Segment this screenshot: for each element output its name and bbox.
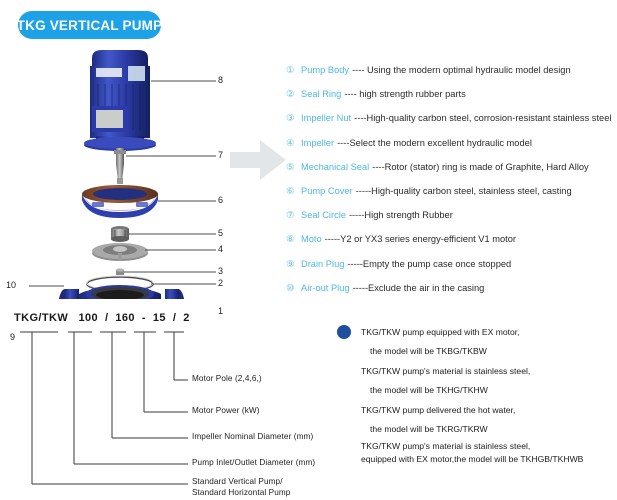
legend-number-icon: ③ bbox=[286, 112, 297, 124]
callout-8: 8 bbox=[218, 75, 223, 85]
page-title: TKG VERTICAL PUMP bbox=[17, 18, 163, 33]
legend-part-name: Pump Cover bbox=[301, 186, 353, 196]
legend-part-name: Moto bbox=[301, 234, 322, 244]
bullet-icon bbox=[337, 325, 351, 339]
legend-part-name: Drain Plug bbox=[301, 259, 344, 269]
right-arrow-icon bbox=[228, 138, 288, 182]
legend-description: -----Empty the pump case once stopped bbox=[347, 259, 511, 269]
callout-6: 6 bbox=[218, 195, 223, 205]
legend-description: -----High-quality carbon steel, stainles… bbox=[356, 186, 572, 196]
note-line: equipped with EX motor,the model will be… bbox=[361, 452, 617, 465]
model-leader-lines bbox=[0, 312, 330, 500]
note-line: TKG/TKW pump's material is stainless ste… bbox=[361, 361, 617, 381]
callout-5: 5 bbox=[218, 228, 223, 238]
legend-part-name: Impeller Nut bbox=[301, 113, 351, 123]
model-label-standard-horiz: Standard Horizontal Pump bbox=[192, 488, 290, 497]
note-line: the model will be TKRG/TKRW bbox=[361, 420, 617, 440]
legend-description: -----Y2 or YX3 series energy-efficient V… bbox=[325, 234, 516, 244]
note-line: the model will be TKHG/TKHW bbox=[361, 381, 617, 401]
callout-4: 4 bbox=[218, 244, 223, 254]
note-line: TKG/TKW pump's material is stainless ste… bbox=[361, 439, 617, 452]
legend-number-icon: ⑨ bbox=[286, 258, 297, 270]
model-label-impeller-dia: Impeller Nominal Diameter (mm) bbox=[192, 432, 313, 441]
legend-item: ⑥ Pump Cover -----High-quality carbon st… bbox=[286, 179, 617, 203]
legend-item: ② Seal Ring ---- high strength rubber pa… bbox=[286, 82, 617, 106]
legend-number-icon: ⑤ bbox=[286, 161, 297, 173]
callout-2: 2 bbox=[218, 278, 223, 288]
legend-item: ⑤ Mechanical Seal ----Rotor (stator) rin… bbox=[286, 155, 617, 179]
exploded-pump-diagram: 8 7 6 5 4 3 2 1 10 9 bbox=[20, 44, 260, 299]
pump-spec-sheet: TKG VERTICAL PUMP bbox=[0, 0, 617, 500]
pump-body-part bbox=[58, 285, 185, 299]
legend-description: ---- high strength rubber parts bbox=[344, 89, 465, 99]
legend-part-name: Pump Body bbox=[301, 65, 349, 75]
legend-part-name: Air-out Plug bbox=[301, 283, 350, 293]
legend-number-icon: ② bbox=[286, 88, 297, 100]
legend-number-icon: ⑧ bbox=[286, 233, 297, 245]
mechanical-seal-part bbox=[111, 226, 129, 242]
legend-description: ----High-quality carbon steel, corrosion… bbox=[354, 113, 611, 123]
legend-number-icon: ① bbox=[286, 64, 297, 76]
motor-part bbox=[84, 50, 156, 151]
legend-number-icon: ④ bbox=[286, 137, 297, 149]
model-label-inlet-dia: Pump Inlet/Outlet Diameter (mm) bbox=[192, 458, 315, 467]
legend-description: -----High strength Rubber bbox=[349, 210, 453, 220]
model-label-standard-vert: Standard Vertical Pump/ bbox=[192, 477, 283, 486]
legend-item: ① Pump Body ---- Using the modern optima… bbox=[286, 58, 617, 82]
legend-item: ③ Impeller Nut ----High-quality carbon s… bbox=[286, 106, 617, 130]
model-label-motor-power: Motor Power (kW) bbox=[192, 406, 260, 415]
impeller-nut-part bbox=[116, 268, 124, 275]
legend-item: ④ Impeller ----Select the modern excelle… bbox=[286, 131, 617, 155]
legend-number-icon: ⑥ bbox=[286, 185, 297, 197]
shaft-part bbox=[114, 148, 126, 184]
callout-10: 10 bbox=[6, 280, 16, 290]
model-variant-notes: TKG/TKW pump equipped with EX motor, the… bbox=[337, 322, 617, 465]
note-line: the model will be TKBG/TKBW bbox=[361, 342, 617, 362]
callout-7: 7 bbox=[218, 150, 223, 160]
legend-description: ---- Using the modern optimal hydraulic … bbox=[352, 65, 571, 75]
legend-item: ⑧ Moto -----Y2 or YX3 series energy-effi… bbox=[286, 227, 617, 251]
impeller-part bbox=[92, 243, 148, 261]
model-label-motor-pole: Motor Pole (2,4,6,) bbox=[192, 374, 262, 383]
model-code-breakdown: TKG/TKW 100 / 160 - 15 / 2 bbox=[0, 312, 330, 500]
note-line: TKG/TKW pump equipped with EX motor, bbox=[361, 322, 617, 342]
legend-description: ----Rotor (stator) ring is made of Graph… bbox=[372, 162, 588, 172]
legend-description: ----Select the modern excellent hydrauli… bbox=[337, 138, 532, 148]
legend-part-name: Seal Ring bbox=[301, 89, 341, 99]
callout-3: 3 bbox=[218, 266, 223, 276]
legend-number-icon: ⑩ bbox=[286, 282, 297, 294]
legend-item: ⑦ Seal Circle -----High strength Rubber bbox=[286, 203, 617, 227]
note-line: TKG/TKW pump delivered the hot water, bbox=[361, 400, 617, 420]
pump-cover-part bbox=[82, 185, 158, 218]
legend-part-name: Impeller bbox=[301, 138, 334, 148]
legend-item: ⑩ Air-out Plug -----Exclude the air in t… bbox=[286, 276, 617, 300]
legend-description: -----Exclude the air in the casing bbox=[353, 283, 485, 293]
legend-part-name: Seal Circle bbox=[301, 210, 346, 220]
parts-legend: ① Pump Body ---- Using the modern optima… bbox=[286, 58, 617, 300]
legend-part-name: Mechanical Seal bbox=[301, 162, 369, 172]
page-title-badge: TKG VERTICAL PUMP bbox=[18, 11, 161, 39]
legend-item: ⑨ Drain Plug -----Empty the pump case on… bbox=[286, 252, 617, 276]
legend-number-icon: ⑦ bbox=[286, 209, 297, 221]
